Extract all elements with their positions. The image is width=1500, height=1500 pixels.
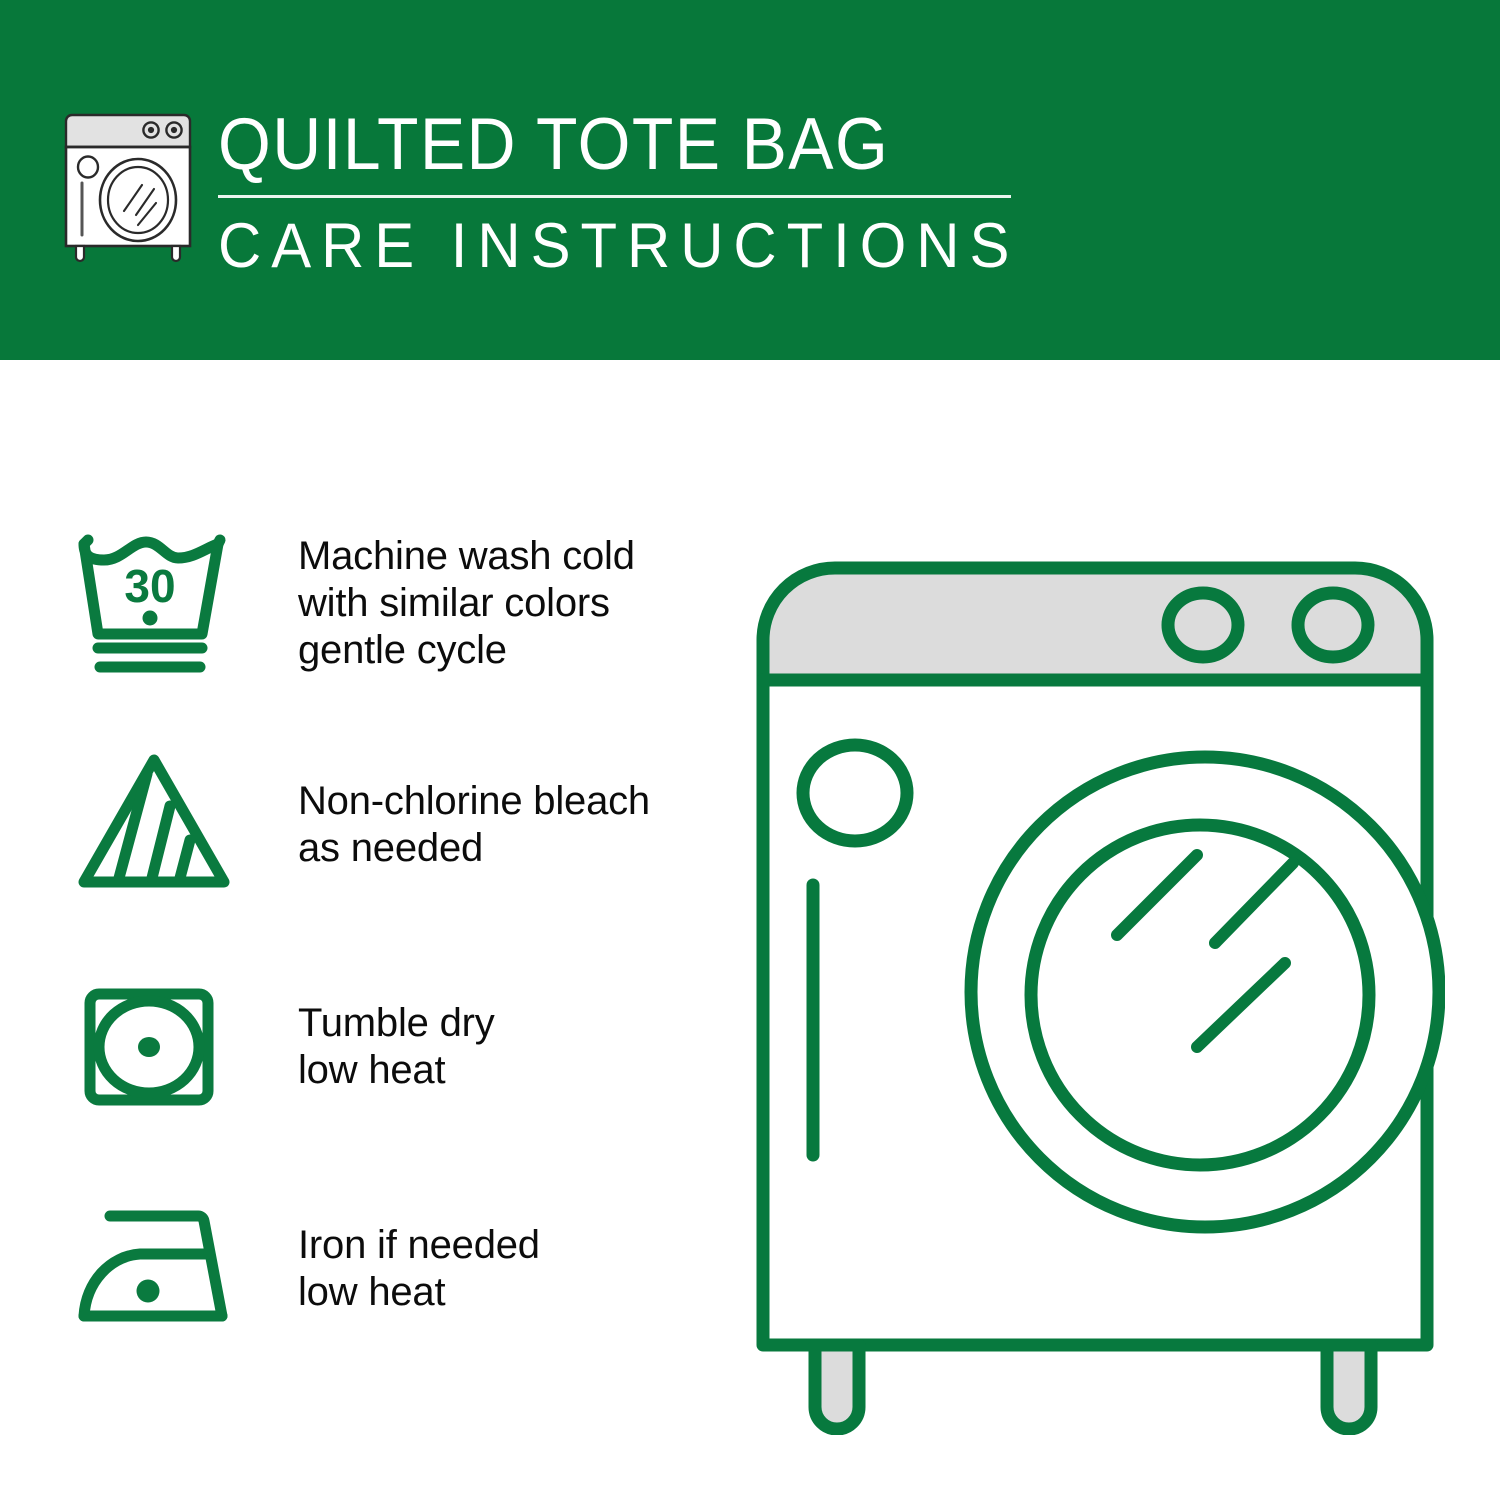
care-text-line: Iron if needed xyxy=(298,1222,710,1269)
wash-dot xyxy=(143,610,158,625)
care-row-machine-wash: 30 Machine wash cold with similar colors… xyxy=(70,505,710,701)
washing-machine-logo-icon xyxy=(62,103,194,263)
care-text-bleach: Non-chlorine bleach as needed xyxy=(260,778,710,872)
header-text-group: QUILTED TOTE BAG CARE INSTRUCTIONS xyxy=(218,104,1018,281)
care-instructions-page: QUILTED TOTE BAG CARE INSTRUCTIONS xyxy=(0,0,1500,1500)
washing-machine-illustration xyxy=(745,495,1445,1435)
care-text-machine-wash: Machine wash cold with similar colors ge… xyxy=(260,533,710,674)
leg-right xyxy=(1327,1345,1371,1429)
page-subtitle: CARE INSTRUCTIONS xyxy=(218,211,978,281)
care-row-tumble-dry: Tumble dry low heat xyxy=(70,949,710,1145)
header-band: QUILTED TOTE BAG CARE INSTRUCTIONS xyxy=(0,0,1500,360)
title-divider xyxy=(218,195,1011,198)
detergent-indicator xyxy=(803,745,907,841)
leg-left xyxy=(815,1345,859,1429)
iron-low-icon xyxy=(70,1184,260,1354)
tumble-dry-low-icon xyxy=(70,962,260,1132)
care-text-line: gentle cycle xyxy=(298,627,710,674)
knob-left xyxy=(1168,593,1238,657)
page-title: QUILTED TOTE BAG xyxy=(218,104,962,186)
care-text-line: with similar colors xyxy=(298,580,710,627)
tumble-dry-dot xyxy=(138,1037,160,1057)
care-text-line: low heat xyxy=(298,1047,710,1094)
knob-right xyxy=(1298,593,1368,657)
care-text-line: Machine wash cold xyxy=(298,533,710,580)
care-text-line: Non-chlorine bleach xyxy=(298,778,710,825)
care-text-line: Tumble dry xyxy=(298,1000,710,1047)
care-text-tumble-dry: Tumble dry low heat xyxy=(260,1000,710,1094)
care-row-bleach: Non-chlorine bleach as needed xyxy=(70,727,710,923)
iron-dot xyxy=(137,1280,160,1303)
care-text-line: as needed xyxy=(298,825,710,872)
wash-temperature-label: 30 xyxy=(124,560,175,612)
care-text-line: low heat xyxy=(298,1269,710,1316)
care-instruction-list: 30 Machine wash cold with similar colors… xyxy=(70,505,710,1367)
machine-wash-30-gentle-icon: 30 xyxy=(70,518,260,688)
care-row-iron: Iron if needed low heat xyxy=(70,1171,710,1367)
care-text-iron: Iron if needed low heat xyxy=(260,1222,710,1316)
door-inner-ring xyxy=(1031,825,1369,1165)
non-chlorine-bleach-icon xyxy=(70,740,260,910)
